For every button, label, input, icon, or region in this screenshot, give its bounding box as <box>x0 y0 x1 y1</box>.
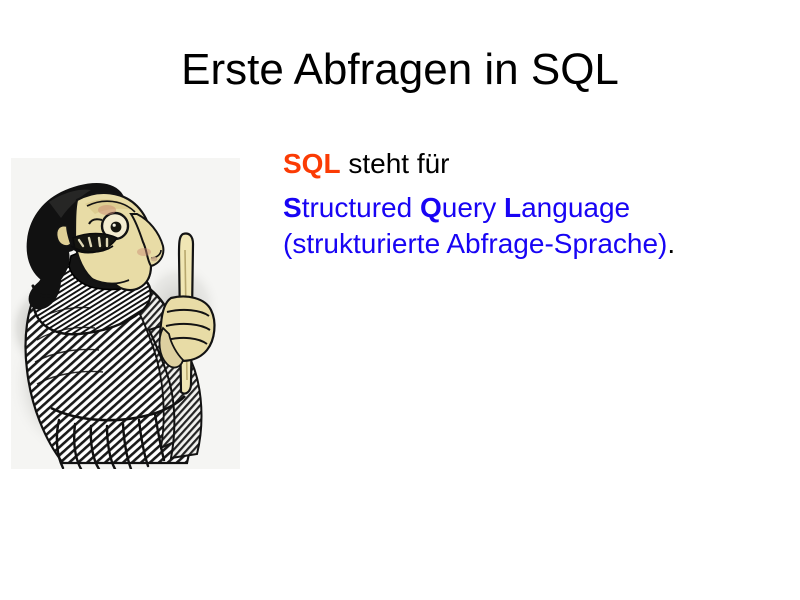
cap-s: S <box>283 192 302 223</box>
caricature-scholar-with-quill-image <box>11 158 240 469</box>
page-title: Erste Abfragen in SQL <box>0 44 800 96</box>
body-line-2: Structured Query Language <box>283 190 788 226</box>
word-structured: tructured <box>302 192 420 223</box>
cap-q: Q <box>420 192 442 223</box>
sql-acronym: SQL <box>283 148 341 179</box>
body-line-3: (strukturierte Abfrage-Sprache). <box>283 226 788 262</box>
caricature-illustration-svg <box>11 158 240 469</box>
word-query: uery <box>442 192 504 223</box>
cap-l: L <box>504 192 521 223</box>
word-language: anguage <box>521 192 630 223</box>
german-translation: (strukturierte Abfrage-Sprache) <box>283 228 667 259</box>
body-text-block: SQL steht für Structured Query Language … <box>283 146 788 262</box>
slide-canvas: Erste Abfragen in SQL <box>0 0 800 600</box>
sentence-period: . <box>667 228 675 259</box>
body-line-1: SQL steht für <box>283 146 788 182</box>
steht-fuer-text: steht für <box>341 148 450 179</box>
